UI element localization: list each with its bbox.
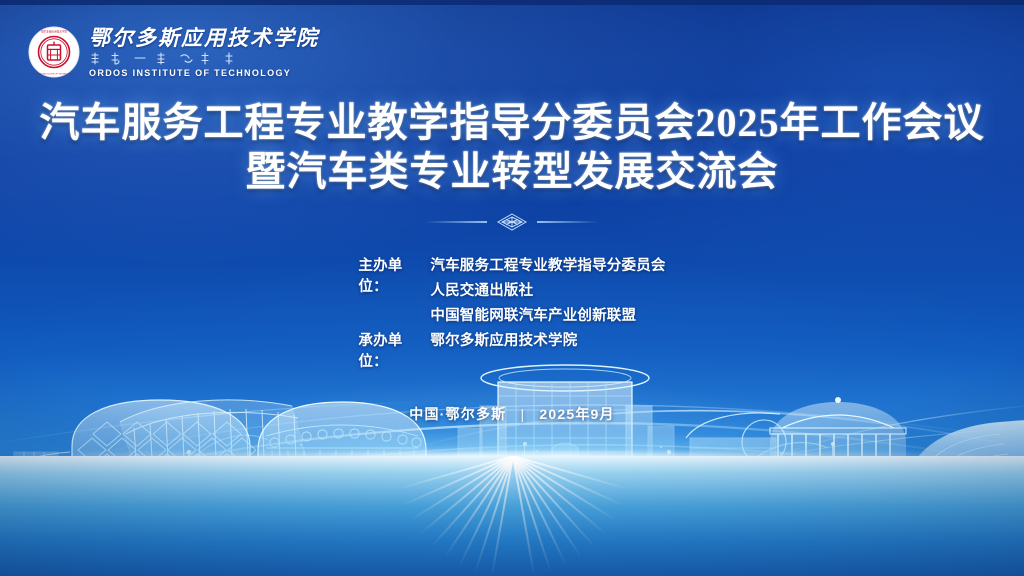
svg-text:鄂尔多斯应用技术学院: 鄂尔多斯应用技术学院	[41, 30, 67, 34]
organizer-label: 承办单位：	[358, 329, 430, 371]
seal-emblem-svg: 鄂尔多斯应用技术学院 ORDOS INSTITUTE OF TECHNOLOGY	[28, 26, 80, 78]
divider-rule-right	[537, 221, 599, 223]
svg-text:ORDOS INSTITUTE OF TECHNOLOGY: ORDOS INSTITUTE OF TECHNOLOGY	[34, 74, 74, 76]
organizer-value: 人民交通出版社	[430, 279, 533, 300]
organizer-value: 汽车服务工程专业教学指导分委员会	[430, 254, 665, 275]
institution-logo: 鄂尔多斯应用技术学院 ORDOS INSTITUTE OF TECHNOLOGY…	[28, 26, 319, 78]
organizer-row: 中国智能网联汽车产业创新联盟	[358, 304, 665, 329]
logo-name-mongolian	[89, 52, 319, 65]
logo-wordmark: 鄂尔多斯应用技术学院 ORDOS INSTITUTE OF TECHNOLOGY	[89, 26, 319, 77]
mongolian-script-glyphs	[89, 52, 239, 65]
diamond-lattice-ornament-icon	[495, 212, 529, 232]
organizer-row: 承办单位： 鄂尔多斯应用技术学院	[358, 329, 665, 354]
organizer-row: 人民交通出版社	[358, 279, 665, 304]
organizers-block: 主办单位： 汽车服务工程专业教学指导分委员会 人民交通出版社 中国智能网联汽车产…	[0, 254, 1024, 354]
title-line-1: 汽车服务工程专业教学指导分委员会2025年工作会议	[0, 98, 1024, 147]
organizer-value: 中国智能网联汽车产业创新联盟	[430, 304, 636, 325]
divider-rule-left	[425, 221, 487, 223]
ordos-institute-seal-icon: 鄂尔多斯应用技术学院 ORDOS INSTITUTE OF TECHNOLOGY	[28, 26, 80, 78]
place-and-date: 中国·鄂尔多斯 | 2025年9月	[0, 404, 1024, 424]
event-location: 中国·鄂尔多斯	[409, 406, 506, 422]
page-title: 汽车服务工程专业教学指导分委员会2025年工作会议 暨汽车类专业转型发展交流会	[0, 98, 1024, 196]
logo-name-en: ORDOS INSTITUTE OF TECHNOLOGY	[89, 68, 319, 78]
organizers-list: 主办单位： 汽车服务工程专业教学指导分委员会 人民交通出版社 中国智能网联汽车产…	[358, 254, 665, 354]
organizer-value: 鄂尔多斯应用技术学院	[430, 329, 577, 350]
conference-backdrop: 鄂尔多斯应用技术学院 ORDOS INSTITUTE OF TECHNOLOGY…	[0, 0, 1024, 576]
title-line-2: 暨汽车类专业转型发展交流会	[0, 147, 1024, 196]
logo-name-cn: 鄂尔多斯应用技术学院	[89, 27, 319, 49]
place-date-separator: |	[520, 406, 525, 422]
event-date: 2025年9月	[539, 406, 614, 422]
decorative-divider	[0, 212, 1024, 232]
organizer-row: 主办单位： 汽车服务工程专业教学指导分委员会	[358, 254, 665, 279]
